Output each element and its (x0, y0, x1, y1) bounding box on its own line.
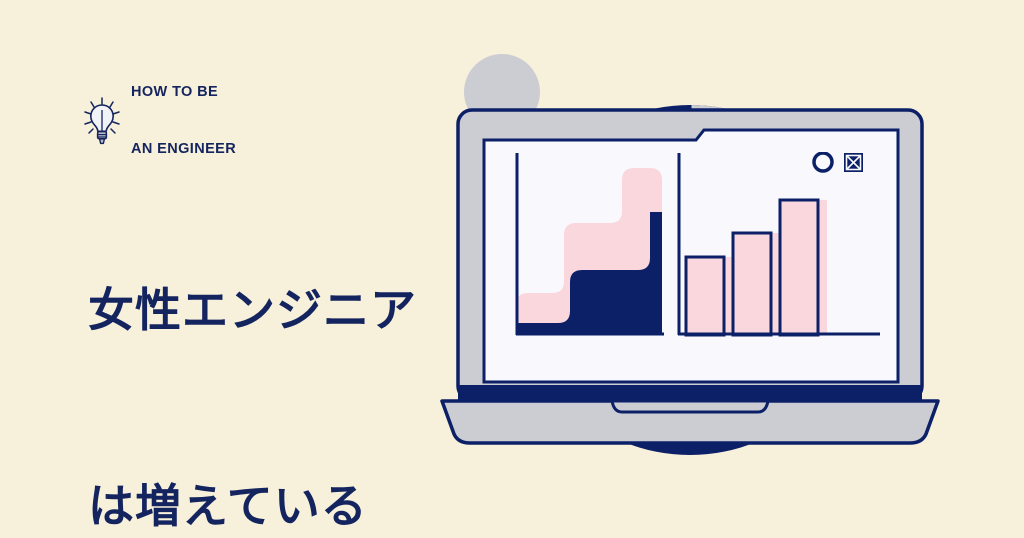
bar-1 (686, 257, 724, 335)
page-title-line-2: は増えている (88, 474, 417, 538)
poster-canvas: HOW TO BE AN ENGINEER 女性エンジニア は増えている (0, 0, 1024, 538)
close-x-icon[interactable] (844, 153, 863, 172)
brand-logo-line-1: HOW TO BE (131, 83, 236, 102)
page-title: 女性エンジニア は増えている (88, 148, 417, 538)
bar-2 (733, 233, 771, 335)
lightbulb-icon (82, 96, 122, 146)
laptop-hinge (458, 385, 922, 401)
page-title-line-1: 女性エンジニア (88, 278, 417, 343)
laptop-with-charts-illustration (440, 40, 940, 470)
laptop-trackpad[interactable] (612, 401, 768, 412)
bar-3 (780, 200, 818, 335)
